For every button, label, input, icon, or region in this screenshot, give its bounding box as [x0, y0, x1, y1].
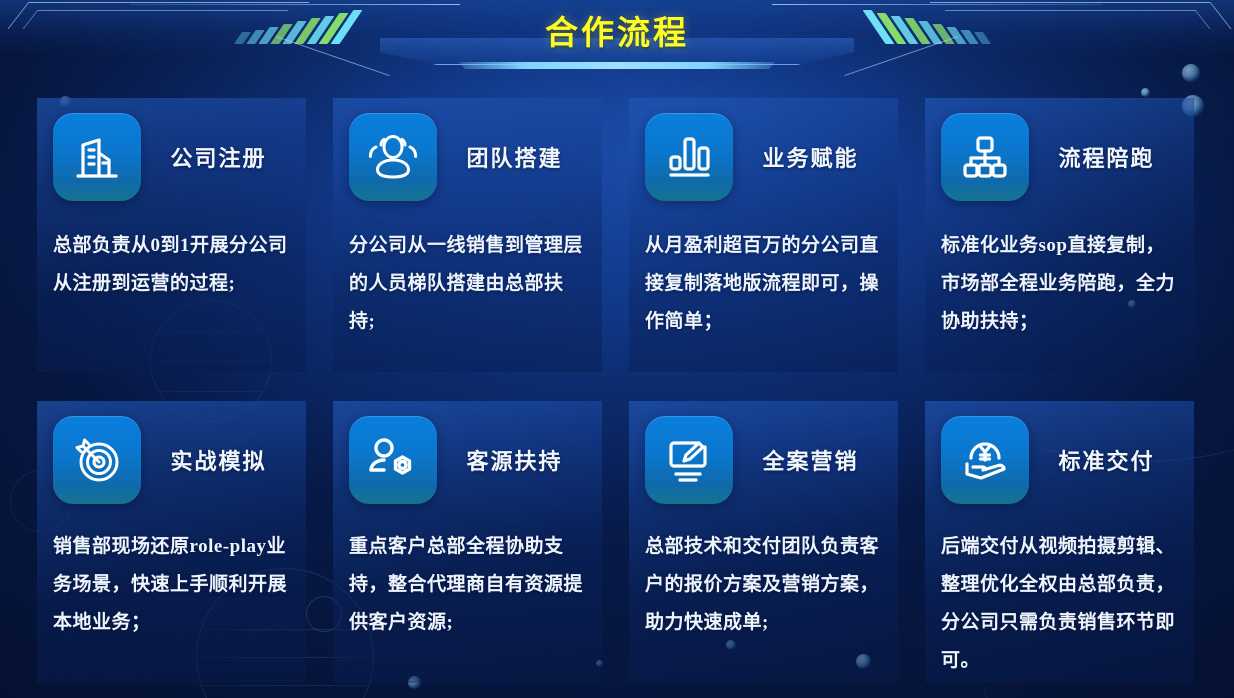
card-description: 重点客户总部全程协助支持，整合代理商自有资源提供客户资源;	[349, 528, 586, 642]
header-plate	[380, 38, 854, 65]
card-description: 销售部现场还原role-play业务场景，快速上手顺利开展本地业务；	[53, 528, 290, 642]
org-chart-icon	[941, 113, 1029, 201]
process-card[interactable]: 客源扶持 重点客户总部全程协助支持，整合代理商自有资源提供客户资源;	[333, 401, 602, 683]
header-rule-right	[772, 4, 1102, 5]
bar-chart-icon	[645, 113, 733, 201]
card-description: 后端交付从视频拍摄剪辑、整理优化全权由总部负责，分公司只需负责销售环节即可。	[941, 528, 1178, 680]
header-diagonal-right	[844, 36, 958, 76]
card-description: 分公司从一线销售到管理层的人员梯队搭建由总部扶持;	[349, 227, 586, 341]
header-rule-left	[130, 4, 460, 5]
card-description: 总部负责从0到1开展分公司从注册到运营的过程;	[53, 227, 290, 303]
hand-yuan-icon	[941, 416, 1029, 504]
bokeh-dot	[1182, 64, 1200, 82]
header-frame-right	[929, 2, 1231, 29]
card-header: 客源扶持	[349, 416, 586, 504]
card-header: 公司注册	[53, 113, 290, 201]
card-header: 全案营销	[645, 416, 882, 504]
process-card[interactable]: 公司注册 总部负责从0到1开展分公司从注册到运营的过程;	[37, 98, 306, 372]
card-header: 业务赋能	[645, 113, 882, 201]
process-card[interactable]: 全案营销 总部技术和交付团队负责客户的报价方案及营销方案，助力快速成单;	[629, 401, 898, 683]
header-frame-right-inner	[945, 10, 1211, 29]
card-header: 团队搭建	[349, 113, 586, 201]
building-icon	[53, 113, 141, 201]
card-description: 标准化业务sop直接复制，市场部全程业务陪跑，全力协助扶持；	[941, 227, 1178, 341]
card-title: 团队搭建	[437, 141, 586, 173]
card-title: 公司注册	[141, 141, 290, 173]
process-card[interactable]: 团队搭建 分公司从一线销售到管理层的人员梯队搭建由总部扶持;	[333, 98, 602, 372]
process-card[interactable]: 标准交付 后端交付从视频拍摄剪辑、整理优化全权由总部负责，分公司只需负责销售环节…	[925, 401, 1194, 683]
card-title: 流程陪跑	[1029, 141, 1178, 173]
card-header: 流程陪跑	[941, 113, 1178, 201]
customer-support-icon	[349, 416, 437, 504]
card-title: 实战模拟	[141, 444, 290, 476]
target-arrow-icon	[53, 416, 141, 504]
bokeh-dot	[1141, 88, 1150, 97]
header-stripes-left	[238, 10, 351, 44]
card-title: 客源扶持	[437, 444, 586, 476]
card-title: 标准交付	[1029, 444, 1178, 476]
header-frame-left	[7, 2, 309, 29]
team-people-icon	[349, 113, 437, 201]
process-card[interactable]: 流程陪跑 标准化业务sop直接复制，市场部全程业务陪跑，全力协助扶持；	[925, 98, 1194, 372]
process-card-grid: 公司注册 总部负责从0到1开展分公司从注册到运营的过程; 团队搭建	[37, 98, 1197, 683]
process-card[interactable]: 实战模拟 销售部现场还原role-play业务场景，快速上手顺利开展本地业务；	[37, 401, 306, 683]
card-title: 全案营销	[733, 444, 882, 476]
slide-background: 合作流程 公司注册 总部负责从0到1开展分公司从注册到运营的过程;	[0, 0, 1234, 698]
header-accent-bar	[452, 62, 782, 69]
header-diagonal-left	[276, 36, 390, 76]
card-description: 总部技术和交付团队负责客户的报价方案及营销方案，助力快速成单;	[645, 528, 882, 642]
header-frame-left-inner	[23, 10, 289, 29]
process-card[interactable]: 业务赋能 从月盈利超百万的分公司直接复制落地版流程即可，操作简单；	[629, 98, 898, 372]
header-stripes-right	[874, 10, 987, 44]
header-band	[0, 0, 1234, 56]
card-header: 实战模拟	[53, 416, 290, 504]
pen-edit-icon	[645, 416, 733, 504]
page-title: 合作流程	[0, 6, 1234, 54]
card-description: 从月盈利超百万的分公司直接复制落地版流程即可，操作简单；	[645, 227, 882, 341]
card-header: 标准交付	[941, 416, 1178, 504]
card-title: 业务赋能	[733, 141, 882, 173]
slide-header: 合作流程	[0, 0, 1234, 78]
